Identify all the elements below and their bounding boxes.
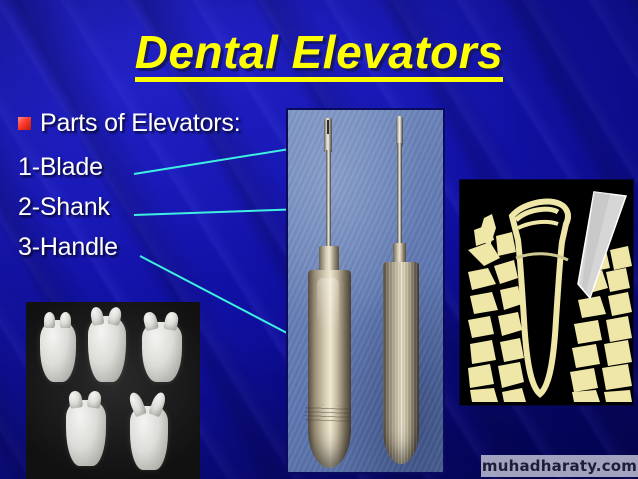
tooth-bone-diagram-svg [460, 180, 633, 405]
elevator-right-blade [396, 116, 403, 146]
tooth-specimen [142, 322, 182, 382]
tooth-specimen [88, 316, 126, 382]
elevator-right-shank [397, 143, 402, 249]
tooth-bone-diagram [459, 179, 634, 406]
elevator-left-collar [319, 246, 339, 272]
slide-title-text: Dental Elevators [135, 28, 503, 82]
parts-heading-label: Parts of Elevators: [40, 109, 240, 138]
elevators-photo [286, 108, 445, 474]
square-bullet-icon [18, 117, 31, 130]
list-item-shank: 2-Shank [18, 193, 110, 222]
extracted-teeth-photo [26, 302, 200, 479]
elevator-left-blade [324, 118, 332, 152]
list-item-blade: 1-Blade [18, 153, 103, 182]
watermark-text: muhadharaty.com [482, 457, 637, 475]
tooth-specimen [40, 320, 76, 382]
slide-canvas: Dental Elevators Parts of Elevators: 1-B… [0, 0, 638, 479]
tooth-specimen [130, 406, 168, 470]
tooth-specimen [66, 400, 106, 466]
parts-heading: Parts of Elevators: [18, 109, 240, 138]
list-item-handle: 3-Handle [18, 233, 118, 262]
watermark: muhadharaty.com [481, 455, 638, 477]
elevator-left-shank [326, 150, 331, 250]
elevator-left-handle [308, 270, 351, 468]
slide-title: Dental Elevators [0, 28, 638, 82]
elevator-right-handle [383, 262, 419, 464]
